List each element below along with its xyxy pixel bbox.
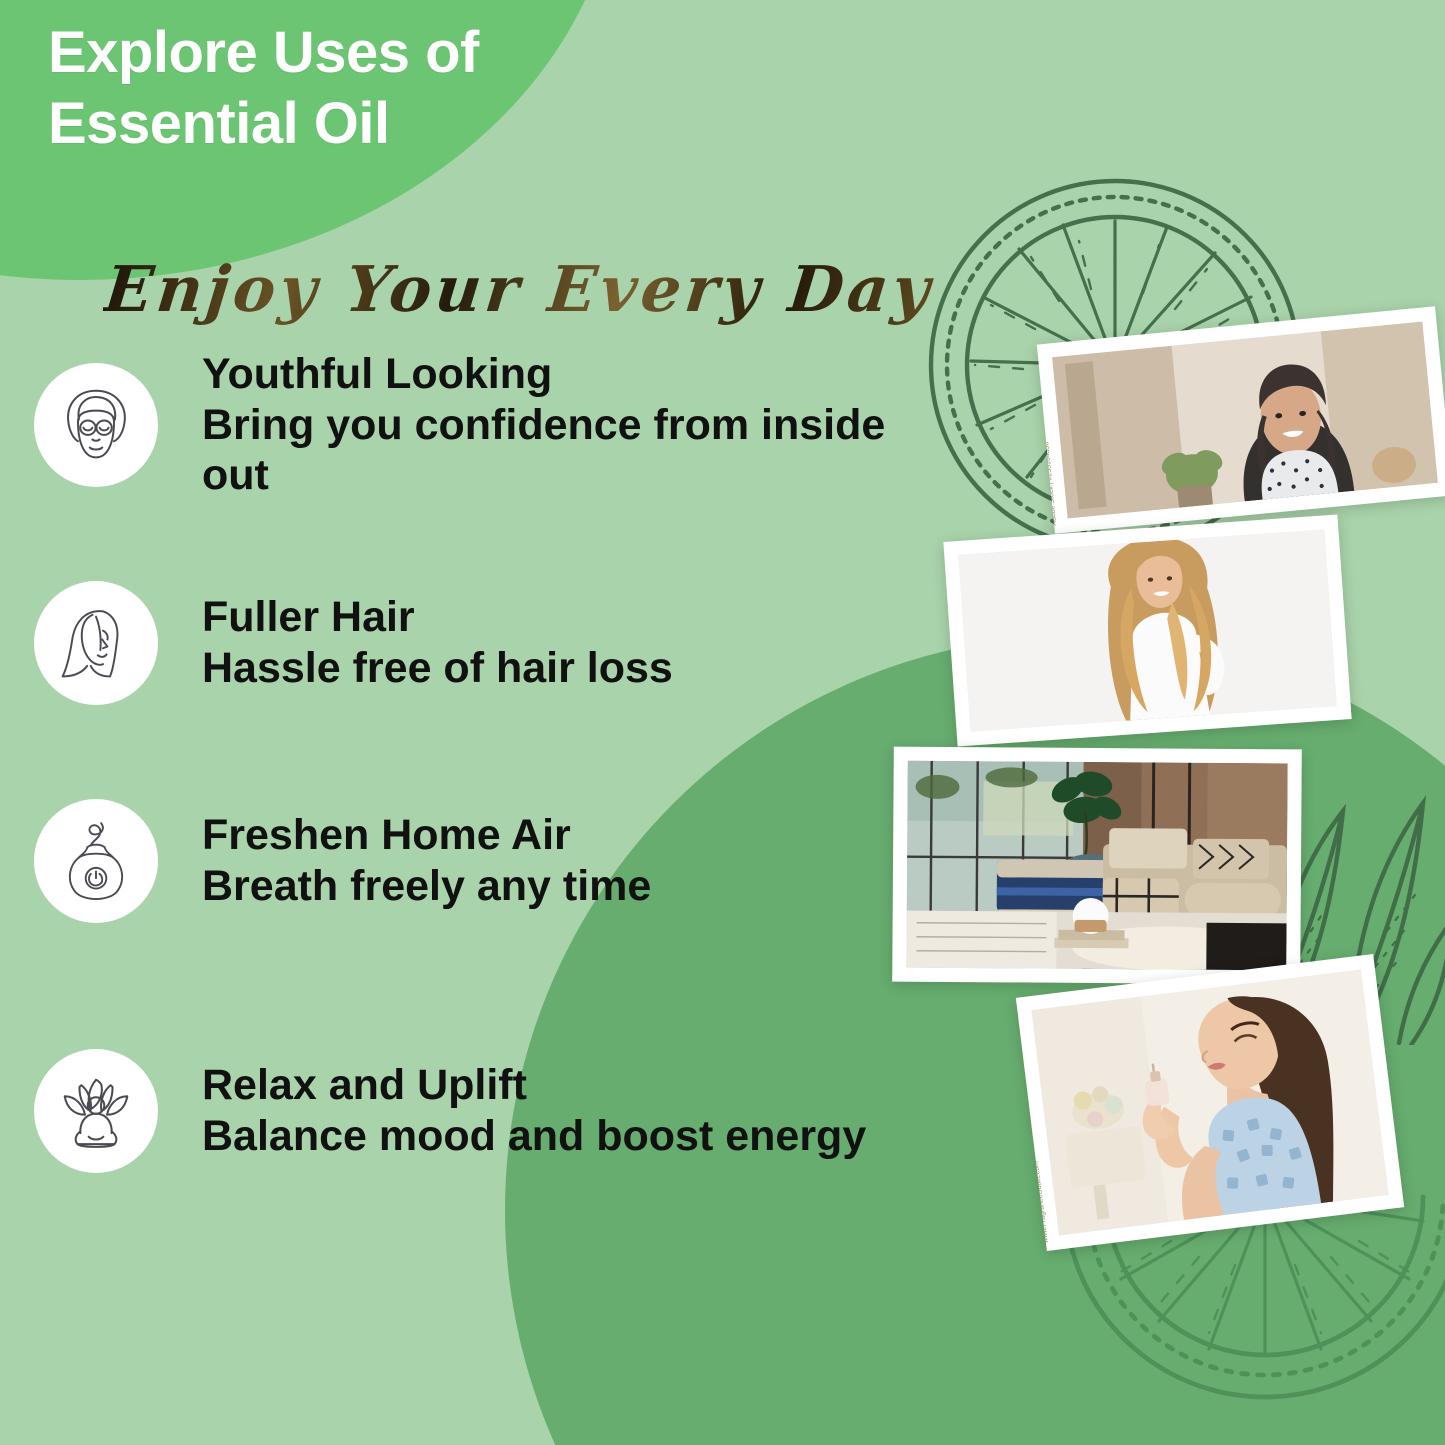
benefit-text-freshen-home-air: Freshen Home Air Breath freely any time xyxy=(202,810,651,911)
photo-smiling-woman: Adobe Stock | #233164336 xyxy=(1037,306,1445,533)
photo-living-room-diffuser xyxy=(892,747,1302,985)
poster-canvas: Explore Uses of Essential Oil Enjoy Your… xyxy=(0,0,1445,1445)
benefit-title: Freshen Home Air xyxy=(202,810,651,861)
benefits-list: Youthful Looking Bring you confidence fr… xyxy=(0,360,960,1264)
benefit-item-relax-and-uplift: Relax and Uplift Balance mood and boost … xyxy=(0,1046,960,1176)
benefit-subtitle: Balance mood and boost energy xyxy=(202,1111,866,1162)
benefit-title: Fuller Hair xyxy=(202,592,673,643)
benefit-text-fuller-hair: Fuller Hair Hassle free of hair loss xyxy=(202,592,673,693)
lotus-meditation-icon xyxy=(34,1049,158,1173)
benefit-subtitle: Hassle free of hair loss xyxy=(202,643,673,694)
long-hair-icon xyxy=(34,581,158,705)
photo-applying-perfume: www.FragranceOutlet.com xyxy=(1016,954,1404,1251)
photo-long-blonde-hair xyxy=(943,514,1351,746)
diffuser-icon xyxy=(34,799,158,923)
page-title-line-1: Explore Uses of xyxy=(48,18,668,89)
benefit-title: Relax and Uplift xyxy=(202,1060,866,1111)
tagline-script: Enjoy Your Every Day xyxy=(101,252,937,326)
benefit-subtitle: Bring you confidence from inside out xyxy=(202,400,960,501)
page-title-line-2: Essential Oil xyxy=(48,89,668,160)
benefit-item-fuller-hair: Fuller Hair Hassle free of hair loss xyxy=(0,578,960,708)
benefit-title: Youthful Looking xyxy=(202,349,960,400)
benefit-text-youthful-looking: Youthful Looking Bring you confidence fr… xyxy=(202,349,960,501)
photo-caption: Adobe Stock | #233164336 xyxy=(1043,441,1058,526)
benefit-subtitle: Breath freely any time xyxy=(202,861,651,912)
benefit-item-youthful-looking: Youthful Looking Bring you confidence fr… xyxy=(0,360,960,490)
benefit-item-freshen-home-air: Freshen Home Air Breath freely any time xyxy=(0,796,960,926)
benefit-text-relax-and-uplift: Relax and Uplift Balance mood and boost … xyxy=(202,1060,866,1161)
page-title: Explore Uses of Essential Oil xyxy=(48,18,668,160)
face-mask-icon xyxy=(34,363,158,487)
